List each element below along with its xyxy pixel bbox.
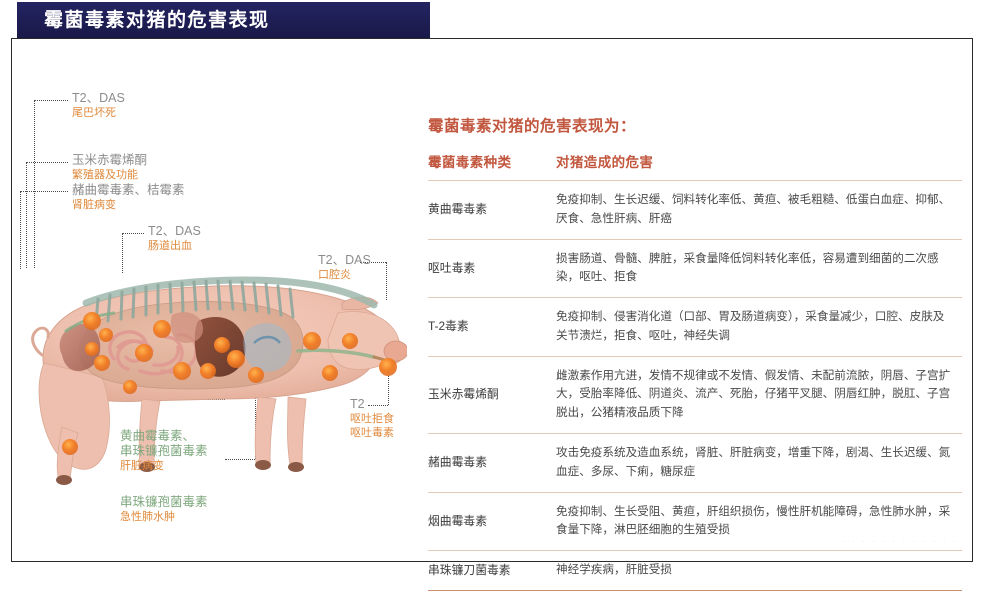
pig-anatomy-diagram: T2、DAS 尾巴坏死 玉米赤霉烯酮 繁殖器及功能 赭曲霉毒素、桔霉素 肾脏病变… bbox=[12, 39, 412, 561]
callout-kidney-lesion: 赭曲霉毒素、桔霉素 肾脏病变 bbox=[72, 183, 185, 212]
marker-dot bbox=[342, 333, 358, 349]
marker-dot bbox=[173, 362, 191, 380]
toxin-harm-table-panel: 霉菌毒素对猪的危害表现为： 霉菌毒素种类 对猪造成的危害 黄曲霉毒素 免疫抑制、… bbox=[416, 39, 972, 561]
page-title-bar: 霉菌毒素对猪的危害表现 bbox=[17, 2, 430, 38]
marker-dot bbox=[153, 320, 171, 338]
marker-dot bbox=[62, 439, 78, 455]
callout-oral-inflammation-main: T2、DAS bbox=[318, 253, 371, 268]
lung-organ bbox=[243, 323, 291, 372]
cell-toxin-kind: 赭曲霉毒素 bbox=[428, 434, 556, 493]
callout-liver-lesion-main2: 串珠镰孢菌毒素 bbox=[120, 444, 208, 459]
callout-liver-lesion-sub: 肝脏病变 bbox=[120, 460, 208, 473]
marker-dot bbox=[200, 363, 216, 379]
cell-toxin-harm: 免疫抑制、侵害消化道（口部、胃及肠道病变），采食量减少，口腔、皮肤及关节溃烂，拒… bbox=[556, 298, 962, 357]
table-row: T-2毒素 免疫抑制、侵害消化道（口部、胃及肠道病变），采食量减少，口腔、皮肤及… bbox=[428, 298, 962, 357]
cell-toxin-kind: 呕吐毒素 bbox=[428, 239, 556, 298]
callout-lung-edema: 串珠镰孢菌毒素 急性肺水肿 bbox=[120, 495, 208, 524]
table-head: 霉菌毒素种类 对猪造成的危害 bbox=[428, 149, 962, 181]
leader-line-repro bbox=[26, 162, 68, 163]
callout-tail-necrosis: T2、DAS 尾巴坏死 bbox=[72, 91, 125, 120]
marker-dot bbox=[303, 332, 321, 350]
page-title: 霉菌毒素对猪的危害表现 bbox=[44, 11, 270, 30]
cell-toxin-harm: 免疫抑制、生长迟缓、饲料转化率低、黄疸、被毛粗糙、低蛋白血症、抑郁、厌食、急性肝… bbox=[556, 181, 962, 240]
pig-front-leg-2 bbox=[288, 397, 307, 467]
callout-intestinal-bleed-main: T2、DAS bbox=[148, 224, 201, 239]
marker-dot bbox=[99, 328, 113, 342]
callout-repro-organ: 玉米赤霉烯酮 繁殖器及功能 bbox=[72, 153, 147, 182]
marker-dot bbox=[123, 380, 137, 394]
callout-tail-necrosis-sub: 尾巴坏死 bbox=[72, 107, 125, 120]
table-row: 呕吐毒素 损害肠道、骨髓、脾脏，采食量降低饲料转化率低，容易遭到细菌的二次感染，… bbox=[428, 239, 962, 298]
table-row: 玉米赤霉烯酮 雌激素作用亢进，发情不规律或不发情、假发情、未配前流脓，阴唇、子宫… bbox=[428, 356, 962, 433]
table-row: 赭曲霉毒素 攻击免疫系统及造血系统，肾脏、肝脏病变，增重下降，剧渴、生长迟缓、氮… bbox=[428, 434, 962, 493]
table-row: 串珠镰刀菌毒素 神经学疾病，肝脏受损 bbox=[428, 551, 962, 591]
callout-lung-edema-sub: 急性肺水肿 bbox=[120, 511, 208, 524]
pig-front-leg bbox=[255, 397, 276, 464]
marker-dot bbox=[379, 358, 397, 376]
callout-intestinal-bleed: T2、DAS 肠道出血 bbox=[148, 224, 201, 253]
page-root: 霉菌毒素对猪的危害表现 bbox=[0, 0, 984, 576]
pig-hoof-4 bbox=[288, 462, 304, 472]
marker-dot bbox=[227, 350, 245, 368]
marker-dot bbox=[85, 342, 99, 356]
cell-toxin-kind: T-2毒素 bbox=[428, 298, 556, 357]
callout-vomit-refusal-main: T2 bbox=[350, 397, 394, 412]
table-row: 黄曲霉毒素 免疫抑制、生长迟缓、饲料转化率低、黄疸、被毛粗糙、低蛋白血症、抑郁、… bbox=[428, 181, 962, 240]
callout-vomit-refusal-sub2: 呕吐毒素 bbox=[350, 427, 394, 440]
column-header-harm: 对猪造成的危害 bbox=[556, 149, 962, 181]
table-heading: 霉菌毒素对猪的危害表现为： bbox=[428, 114, 636, 136]
callout-repro-organ-main: 玉米赤霉烯酮 bbox=[72, 153, 147, 168]
marker-dot bbox=[94, 355, 110, 371]
callout-tail-necrosis-main: T2、DAS bbox=[72, 91, 125, 106]
marker-dot bbox=[248, 367, 264, 383]
callout-liver-lesion: 黄曲霉毒素、 串珠镰孢菌毒素 肝脏病变 bbox=[120, 429, 208, 472]
marker-dot bbox=[322, 365, 338, 381]
callout-oral-inflammation: T2、DAS 口腔炎 bbox=[318, 253, 371, 282]
cell-toxin-harm: 神经学疾病，肝脏受损 bbox=[556, 551, 962, 591]
content-card: T2、DAS 尾巴坏死 玉米赤霉烯酮 繁殖器及功能 赭曲霉毒素、桔霉素 肾脏病变… bbox=[11, 38, 973, 562]
pig-hoof-3 bbox=[255, 460, 271, 470]
pig-illustration bbox=[22, 251, 407, 486]
marker-dot bbox=[135, 344, 153, 362]
pig-snout bbox=[384, 341, 407, 361]
marker-dot bbox=[214, 337, 230, 353]
cell-toxin-harm: 攻击免疫系统及造血系统，肾脏、肝脏病变，增重下降，剧渴、生长迟缓、氮血症、多尿、… bbox=[556, 434, 962, 493]
cell-toxin-harm: 损害肠道、骨髓、脾脏，采食量降低饲料转化率低，容易遭到细菌的二次感染，呕吐、拒食 bbox=[556, 239, 962, 298]
callout-repro-organ-sub: 繁殖器及功能 bbox=[72, 169, 147, 182]
callout-kidney-lesion-main: 赭曲霉毒素、桔霉素 bbox=[72, 183, 185, 198]
callout-intestinal-bleed-sub: 肠道出血 bbox=[148, 240, 201, 253]
pig-hoof-1 bbox=[56, 475, 72, 485]
pig-illustration-svg bbox=[22, 251, 407, 486]
callout-oral-inflammation-sub: 口腔炎 bbox=[318, 269, 371, 282]
callout-vomit-refusal: T2 呕吐拒食 呕吐毒素 bbox=[350, 397, 394, 440]
callout-vomit-refusal-sub: 呕吐拒食 bbox=[350, 413, 394, 426]
leader-line-kidney bbox=[20, 191, 68, 192]
table-header-row: 霉菌毒素种类 对猪造成的危害 bbox=[428, 149, 962, 181]
column-header-kind: 霉菌毒素种类 bbox=[428, 149, 556, 181]
callout-liver-lesion-main: 黄曲霉毒素、 bbox=[120, 429, 208, 444]
callout-kidney-lesion-sub: 肾脏病变 bbox=[72, 199, 185, 212]
table-body: 黄曲霉毒素 免疫抑制、生长迟缓、饲料转化率低、黄疸、被毛粗糙、低蛋白血症、抑郁、… bbox=[428, 181, 962, 591]
callout-lung-edema-main: 串珠镰孢菌毒素 bbox=[120, 495, 208, 510]
leader-drop-tail bbox=[34, 100, 35, 268]
toxin-harm-table: 霉菌毒素种类 对猪造成的危害 黄曲霉毒素 免疫抑制、生长迟缓、饲料转化率低、黄疸… bbox=[428, 149, 962, 591]
cell-toxin-kind: 串珠镰刀菌毒素 bbox=[428, 551, 556, 591]
cell-toxin-kind: 玉米赤霉烯酮 bbox=[428, 356, 556, 433]
cell-toxin-harm: 雌激素作用亢进，发情不规律或不发情、假发情、未配前流脓，阴唇、子宫扩大，受胎率降… bbox=[556, 356, 962, 433]
leader-line-tail bbox=[34, 100, 68, 101]
cell-toxin-kind: 烟曲霉毒素 bbox=[428, 492, 556, 551]
leader-drop-kidney bbox=[20, 191, 21, 269]
marker-dot bbox=[83, 312, 101, 330]
leader-line-intestine bbox=[122, 233, 144, 234]
cell-toxin-kind: 黄曲霉毒素 bbox=[428, 181, 556, 240]
watermark: · · · · · · · · · · · · bbox=[841, 536, 958, 547]
